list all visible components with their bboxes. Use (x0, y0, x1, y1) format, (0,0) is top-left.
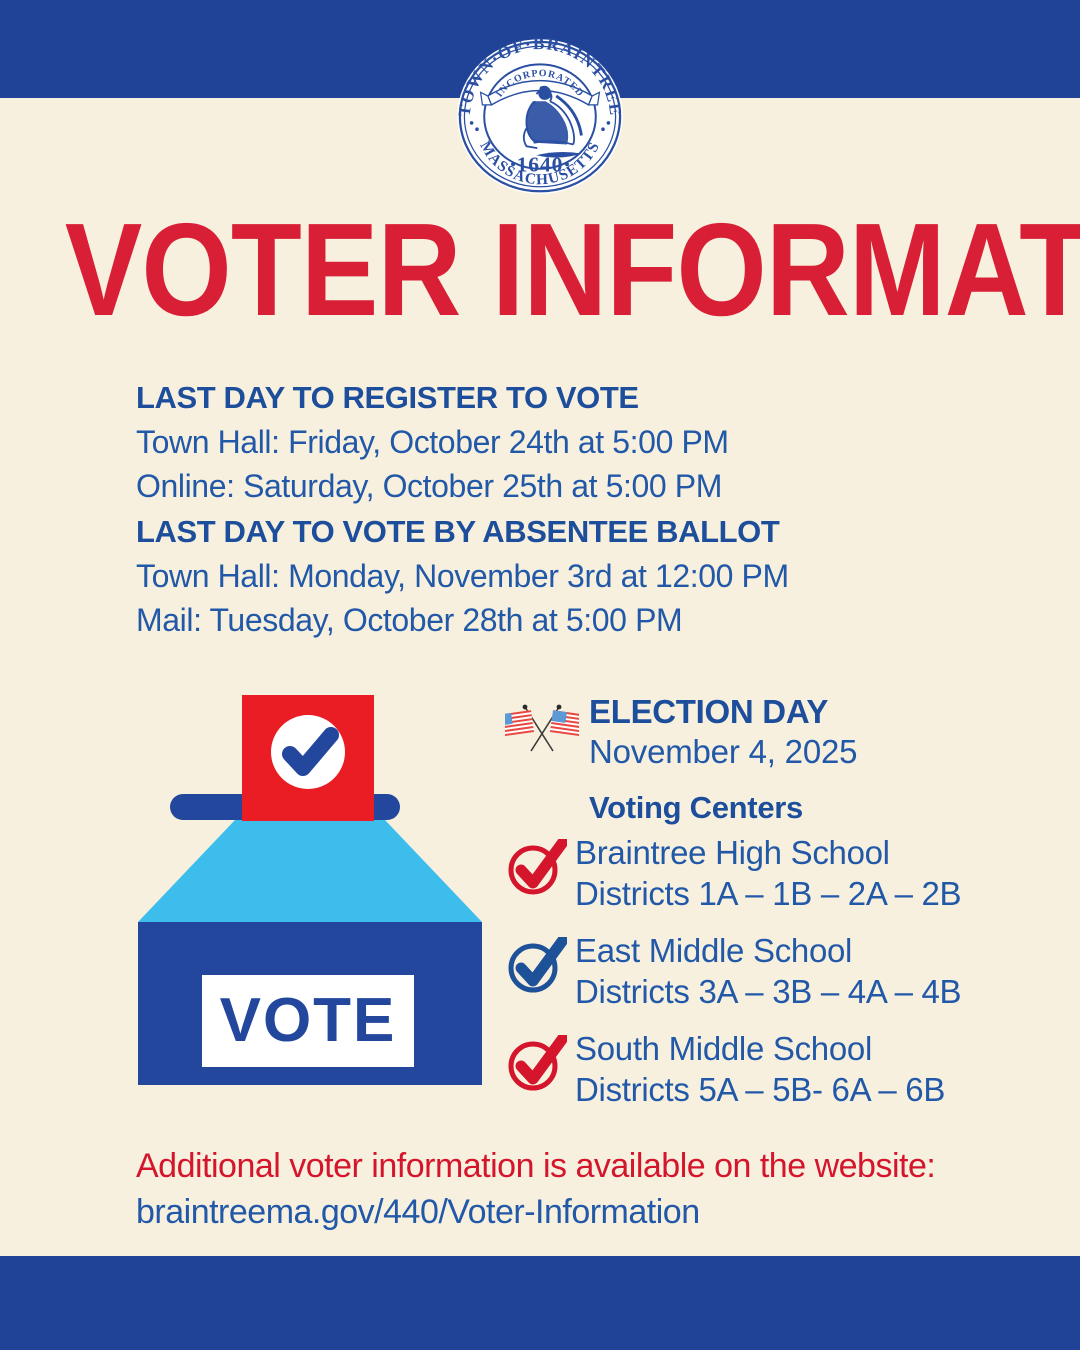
list-item-body: East Middle School Districts 3A – 3B – 4… (567, 931, 961, 1013)
check-circle-icon (505, 1035, 567, 1093)
list-item: South Middle School Districts 5A – 5B- 6… (505, 1029, 1005, 1111)
poster-canvas: TOWN·OF·BRAINTREE MASSACHUSETTS INCORPOR… (0, 0, 1080, 1350)
register-line-town-hall: Town Hall: Friday, October 24th at 5:00 … (136, 420, 976, 464)
voting-center-districts: Districts 5A – 5B- 6A – 6B (575, 1069, 945, 1111)
absentee-heading: LAST DAY TO VOTE BY ABSENTEE BALLOT (136, 512, 976, 552)
list-item: East Middle School Districts 3A – 3B – 4… (505, 931, 1005, 1013)
footer-block: Additional voter information is availabl… (136, 1143, 1036, 1235)
absentee-line-mail: Mail: Tuesday, October 28th at 5:00 PM (136, 598, 976, 642)
voting-center-name: East Middle School (575, 931, 961, 971)
footer-website-url[interactable]: braintreema.gov/440/Voter-Information (136, 1189, 1036, 1235)
ballot-box-vote-label: VOTE (220, 986, 397, 1055)
svg-text:1640: 1640 (517, 153, 564, 177)
bottom-blue-bar (0, 1256, 1080, 1350)
election-day-date: November 4, 2025 (589, 731, 857, 773)
absentee-line-town-hall: Town Hall: Monday, November 3rd at 12:00… (136, 554, 976, 598)
register-info-block: LAST DAY TO REGISTER TO VOTE Town Hall: … (136, 378, 976, 508)
list-item: Braintree High School Districts 1A – 1B … (505, 833, 1005, 915)
register-line-online: Online: Saturday, October 25th at 5:00 P… (136, 464, 976, 508)
voting-center-districts: Districts 3A – 3B – 4A – 4B (575, 971, 961, 1013)
election-day-row: ELECTION DAY November 4, 2025 (505, 693, 1005, 773)
voting-centers-list: Braintree High School Districts 1A – 1B … (505, 833, 1005, 1111)
election-day-text: ELECTION DAY November 4, 2025 (579, 693, 857, 773)
crossed-us-flags-icon (505, 699, 579, 755)
register-heading: LAST DAY TO REGISTER TO VOTE (136, 378, 976, 418)
ballot-box-icon: VOTE (120, 690, 500, 1090)
absentee-info-block: LAST DAY TO VOTE BY ABSENTEE BALLOT Town… (136, 512, 976, 642)
right-column: ELECTION DAY November 4, 2025 Voting Cen… (505, 693, 1005, 1127)
check-circle-icon (505, 937, 567, 995)
list-item-body: Braintree High School Districts 1A – 1B … (567, 833, 961, 915)
list-item-body: South Middle School Districts 5A – 5B- 6… (567, 1029, 945, 1111)
voting-center-districts: Districts 1A – 1B – 2A – 2B (575, 873, 961, 915)
town-seal-icon: TOWN·OF·BRAINTREE MASSACHUSETTS INCORPOR… (450, 29, 630, 197)
voting-center-name: Braintree High School (575, 833, 961, 873)
footer-note: Additional voter information is availabl… (136, 1143, 1036, 1189)
voting-centers-title: Voting Centers (589, 789, 1005, 827)
voting-center-name: South Middle School (575, 1029, 945, 1069)
page-title: VOTER INFORMATION (65, 205, 1015, 335)
election-day-title: ELECTION DAY (589, 693, 857, 731)
check-circle-icon (505, 839, 567, 897)
